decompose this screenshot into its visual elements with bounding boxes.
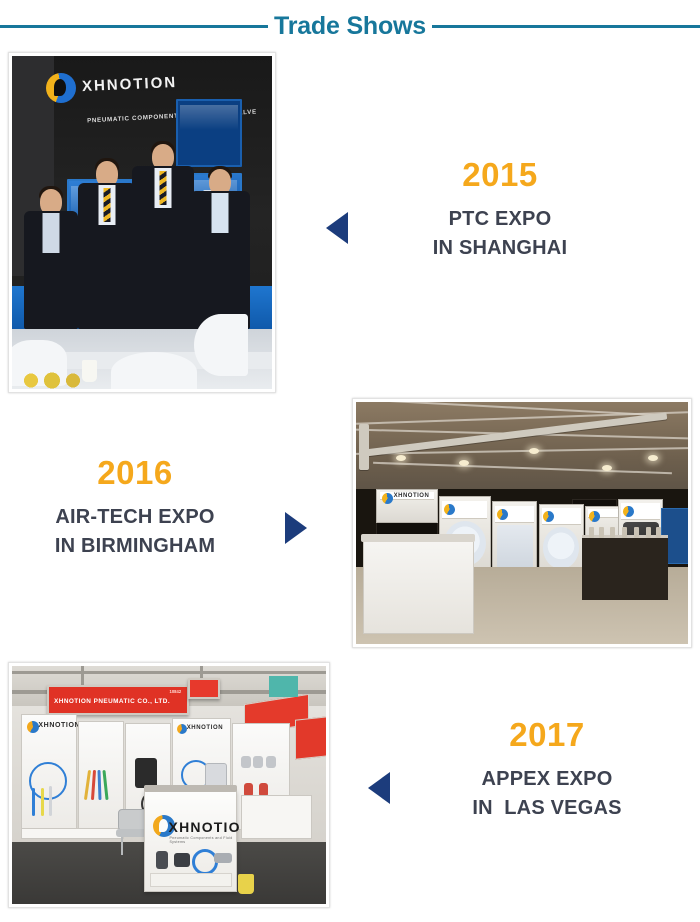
trade-show-photo-2017: 10842 XHNOTION PNEUMATIC CO., LTD. XHNOT… [8,662,330,908]
year-label: 2016 [10,456,260,489]
person-figure [184,169,256,329]
expo-name-line: PTC EXPO [370,205,630,234]
panel-brand-text: XHNOTION [187,725,223,731]
triangle-left-icon-2017 [368,772,390,804]
expo-location-line: IN BIRMINGHAM [10,532,260,561]
trade-show-photo-2016: XHNOTION [352,398,692,648]
booth-sign: 10842 XHNOTION PNEUMATIC CO., LTD. [47,685,189,715]
booth-counter [363,540,475,634]
year-label: 2017 [412,718,682,751]
counter-tagline-text: Pneumatic Components and Fluid Systems [169,836,235,844]
expo-name-line: APPEX EXPO [412,765,682,794]
expo-location-line: IN SHANGHAI [370,234,630,263]
trade-show-photo-2015: XHNOTION PNEUMATIC COMPONENTS & SOLENOID… [8,52,276,393]
booth-counter: XHNOTION Pneumatic Components and Fluid … [144,790,237,892]
counter-brand-text: XHNOTION [169,819,253,835]
header-rule-right [432,25,700,28]
triangle-right-icon-2016 [285,512,307,544]
page-title: Trade Shows [272,14,428,39]
booth-sign-text: XHNOTION PNEUMATIC CO., LTD. [54,698,170,705]
booth-number: 10842 [170,689,182,694]
triangle-left-icon-2015 [326,212,348,244]
section-header: Trade Shows [0,0,700,52]
trade-shows-page: Trade Shows XHNOTION PNEUMATIC COMPONENT… [0,0,700,922]
year-label: 2015 [370,158,630,191]
panel-brand-text: XHNOTION [38,722,80,729]
expo-location-line: IN LAS VEGAS [412,794,682,823]
expo-name-line: AIR-TECH EXPO [10,503,260,532]
xhnotion-logo-icon [46,73,76,103]
caption-2016: 2016 AIR-TECH EXPO IN BIRMINGHAM [10,456,260,561]
header-rule-left [0,25,268,28]
panel-brand-text: XHNOTION [394,493,430,499]
caption-2015: 2015 PTC EXPO IN SHANGHAI [370,158,630,263]
caption-2017: 2017 APPEX EXPO IN LAS VEGAS [412,718,682,823]
